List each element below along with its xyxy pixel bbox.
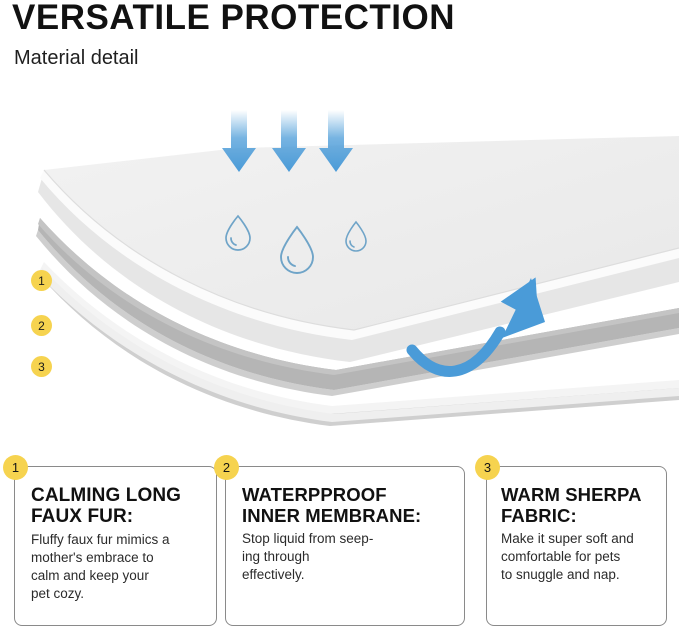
material-layers-diagram: 1 2 3 — [0, 100, 679, 450]
layered-fabric-illustration — [0, 100, 679, 450]
feature-card-3-body: Make it super soft and comfortable for p… — [501, 530, 662, 584]
layer-badge-3: 3 — [31, 356, 52, 377]
feature-card-1-content: CALMING LONG FAUX FUR: Fluffy faux fur m… — [15, 467, 216, 603]
feature-cards-row: 1 CALMING LONG FAUX FUR: Fluffy faux fur… — [0, 466, 679, 632]
feature-card-2-badge: 2 — [214, 455, 239, 480]
water-down-arrows-group — [222, 110, 353, 172]
feature-card-1: 1 CALMING LONG FAUX FUR: Fluffy faux fur… — [14, 466, 217, 626]
feature-card-3-badge: 3 — [475, 455, 500, 480]
page-subtitle: Material detail — [14, 47, 139, 70]
feature-card-2-content: WATERPPROOF INNER MEMBRANE: Stop liquid … — [226, 467, 464, 584]
page-title: VERSATILE PROTECTION — [12, 0, 455, 38]
feature-card-3-content: WARM SHERPA FABRIC: Make it super soft a… — [487, 467, 666, 584]
feature-card-1-body: Fluffy faux fur mimics a mother's embrac… — [31, 531, 210, 603]
feature-card-1-badge: 1 — [3, 455, 28, 480]
feature-card-1-title: CALMING LONG FAUX FUR: — [31, 485, 210, 528]
layer-badge-1: 1 — [31, 270, 52, 291]
feature-card-2-title: WATERPPROOF INNER MEMBRANE: — [242, 485, 458, 527]
feature-card-2: 2 WATERPPROOF INNER MEMBRANE: Stop liqui… — [225, 466, 465, 626]
feature-card-3: 3 WARM SHERPA FABRIC: Make it super soft… — [486, 466, 667, 626]
feature-card-2-body: Stop liquid from seep- ing through effec… — [242, 530, 458, 584]
feature-card-3-title: WARM SHERPA FABRIC: — [501, 485, 662, 527]
layer-badge-2: 2 — [31, 315, 52, 336]
